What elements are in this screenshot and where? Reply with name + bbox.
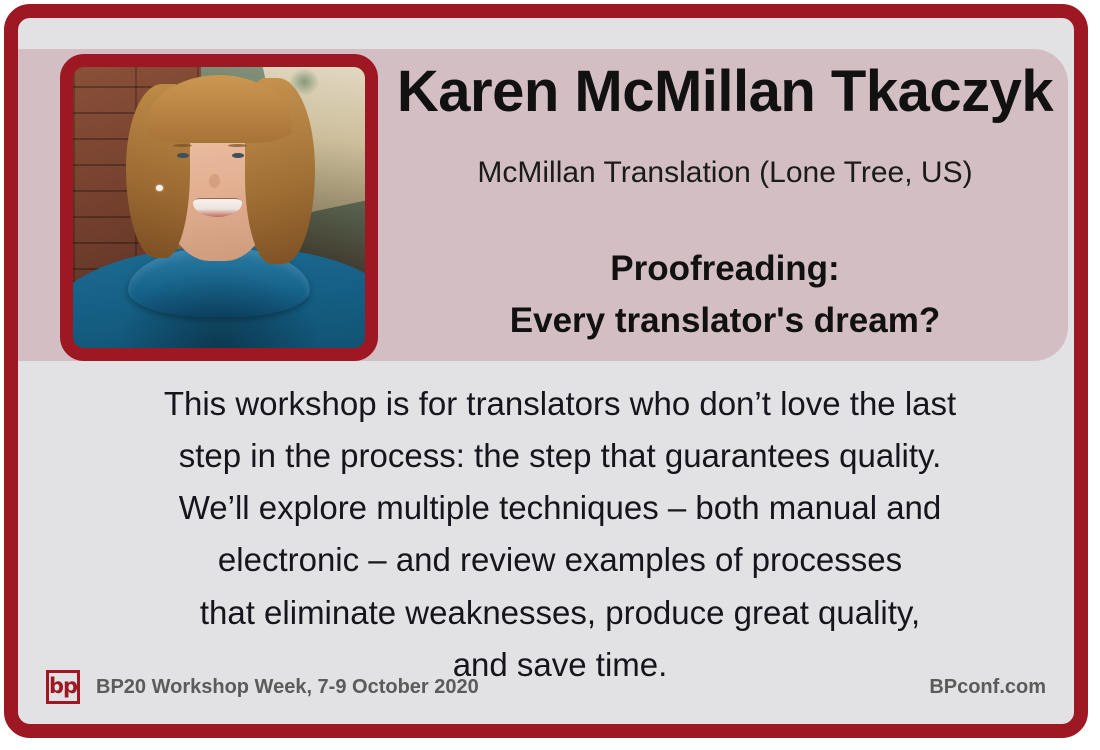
talk-title-line: Proofreading:	[380, 243, 1070, 295]
talk-title: Proofreading: Every translator's dream?	[380, 243, 1070, 347]
footer: bp BP20 Workshop Week, 7-9 October 2020 …	[46, 664, 1046, 710]
portrait-earring	[156, 185, 162, 191]
footer-website-label[interactable]: BPconf.com	[929, 676, 1046, 699]
portrait-sweater-shadow	[114, 264, 324, 348]
bp-logo-icon: bp	[46, 670, 80, 704]
speaker-photo-frame	[60, 54, 378, 361]
speaker-name: Karen McMillan Tkaczyk	[380, 62, 1070, 123]
description-line: We’ll explore multiple techniques – both…	[46, 482, 1074, 534]
footer-left-group: bp BP20 Workshop Week, 7-9 October 2020	[46, 670, 479, 704]
description-line: electronic – and review examples of proc…	[46, 534, 1074, 586]
description-line: step in the process: the step that guara…	[46, 430, 1074, 482]
speaker-card: Karen McMillan Tkaczyk McMillan Translat…	[4, 4, 1088, 738]
talk-description: This workshop is for translators who don…	[46, 378, 1074, 691]
description-line: that eliminate weaknesses, produce great…	[46, 587, 1074, 639]
speaker-affiliation: McMillan Translation (Lone Tree, US)	[380, 156, 1070, 190]
speaker-photo	[73, 67, 365, 348]
description-line: This workshop is for translators who don…	[46, 378, 1074, 430]
bp-logo-text: bp	[49, 676, 77, 697]
talk-title-line: Every translator's dream?	[380, 295, 1070, 347]
footer-event-label: BP20 Workshop Week, 7-9 October 2020	[96, 676, 479, 699]
